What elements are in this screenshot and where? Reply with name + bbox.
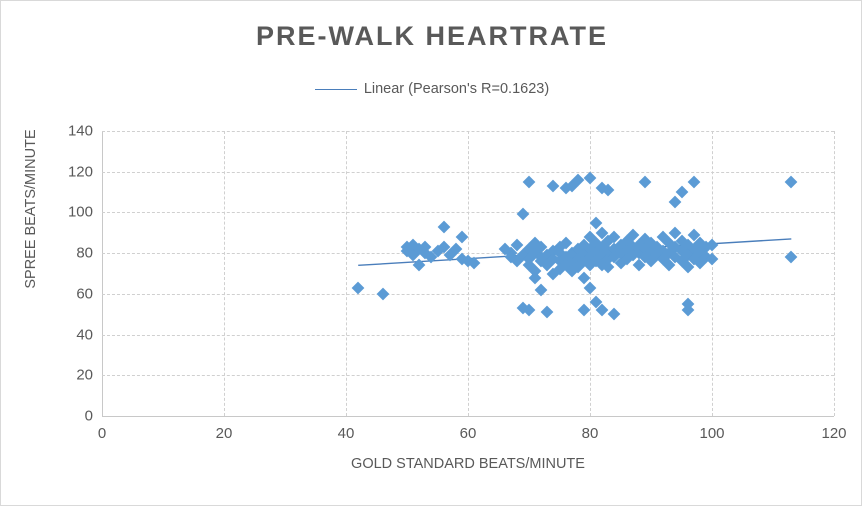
x-tick-label: 80 [560,425,620,442]
plot-area [102,131,834,416]
x-tick-label: 60 [438,425,498,442]
gridline-vertical [346,131,347,416]
y-tick-label: 80 [33,245,93,262]
x-axis-label: GOLD STANDARD BEATS/MINUTE [102,456,834,472]
chart-canvas: PRE-WALK HEARTRATE Linear (Pearson's R=0… [0,0,862,506]
y-tick-label: 100 [33,204,93,221]
y-tick-label: 40 [33,326,93,343]
legend-line-swatch [315,89,357,90]
y-tick-label: 0 [33,408,93,425]
gridline-vertical [834,131,835,416]
y-tick-label: 120 [33,163,93,180]
y-tick-label: 140 [33,123,93,140]
y-tick-label: 60 [33,285,93,302]
y-axis-label: SPREE BEATS/MINUTE [23,84,39,334]
x-tick-label: 120 [804,425,862,442]
x-tick-label: 0 [72,425,132,442]
chart-legend: Linear (Pearson's R=0.1623) [1,81,862,97]
x-tick-label: 20 [194,425,254,442]
legend-label-linear: Linear (Pearson's R=0.1623) [364,81,549,97]
x-tick-label: 100 [682,425,742,442]
chart-title: PRE-WALK HEARTRATE [1,21,862,52]
gridline-vertical [468,131,469,416]
x-axis-ticks: 020406080100120 [102,425,834,449]
gridline-vertical [224,131,225,416]
y-tick-label: 20 [33,367,93,384]
gridline-vertical [712,131,713,416]
x-axis-line [102,416,834,417]
x-tick-label: 40 [316,425,376,442]
